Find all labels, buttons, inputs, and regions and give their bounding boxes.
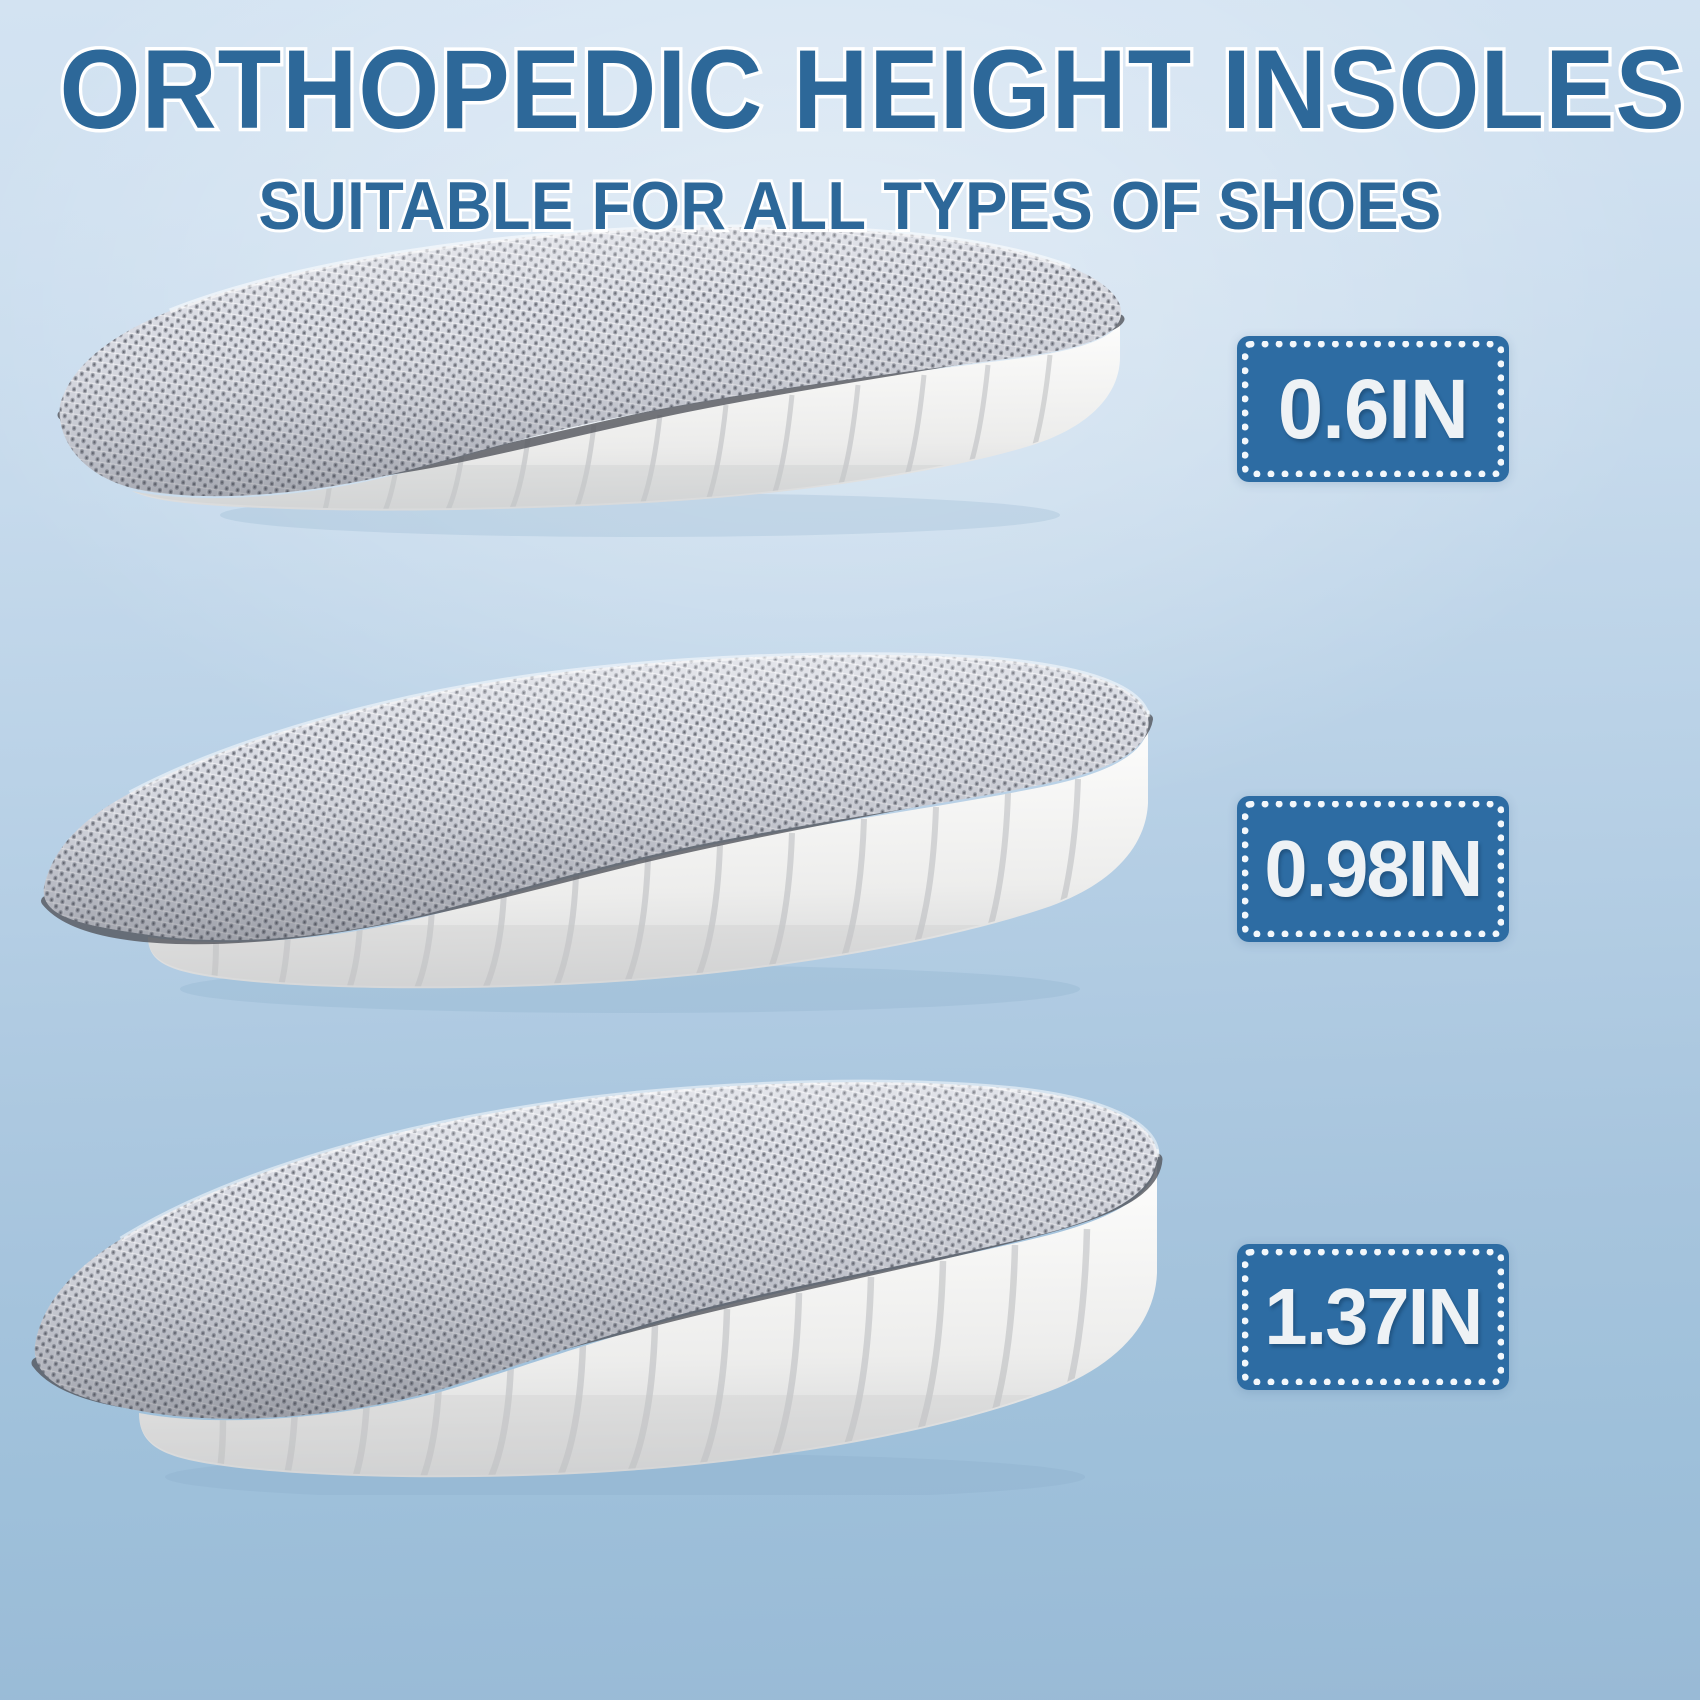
badge-value-label: 0.98IN bbox=[1264, 823, 1481, 915]
height-badge-0-6in: 0.6IN bbox=[1237, 336, 1509, 482]
badge-value-label: 1.37IN bbox=[1264, 1271, 1481, 1363]
poster-headings: ORTHOPEDIC HEIGHT INSOLES SUITABLE FOR A… bbox=[0, 0, 1700, 240]
insole-image-1-37in bbox=[25, 1045, 1185, 1495]
badge-value-label: 0.6IN bbox=[1278, 361, 1468, 458]
height-badge-1-37in: 1.37IN bbox=[1237, 1244, 1509, 1390]
page-title: ORTHOPEDIC HEIGHT INSOLES bbox=[60, 0, 1641, 146]
height-badge-0-98in: 0.98IN bbox=[1237, 796, 1509, 942]
insole-image-0-98in bbox=[30, 625, 1180, 1015]
product-poster: ORTHOPEDIC HEIGHT INSOLES SUITABLE FOR A… bbox=[0, 0, 1700, 1700]
insole-image-0-6in bbox=[40, 215, 1160, 545]
page-subtitle: SUITABLE FOR ALL TYPES OF SHOES bbox=[60, 146, 1641, 240]
